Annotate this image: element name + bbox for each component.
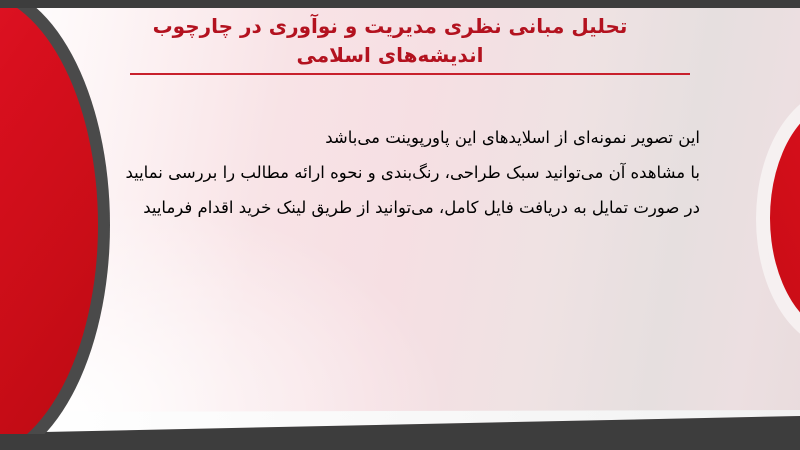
slide-title-line-1: تحلیل مبانی نظری مدیریت و نوآوری در چارچ… <box>60 12 720 41</box>
slide-title-line-2: اندیشه‌های اسلامی <box>60 41 720 70</box>
presentation-slide: تحلیل مبانی نظری مدیریت و نوآوری در چارچ… <box>0 0 800 450</box>
title-underline-rule <box>130 73 690 75</box>
slide-title: تحلیل مبانی نظری مدیریت و نوآوری در چارچ… <box>60 12 720 70</box>
body-line-1: این تصویر نمونه‌ای از اسلایدهای این پاور… <box>80 120 700 155</box>
body-line-2: با مشاهده آن می‌توانید سبک طراحی، رنگ‌بن… <box>80 155 700 190</box>
body-line-3: در صورت تمایل به دریافت فایل کامل، می‌تو… <box>80 190 700 225</box>
frame-band-bottom <box>0 434 800 450</box>
frame-band-top <box>0 0 800 8</box>
slide-body-text: این تصویر نمونه‌ای از اسلایدهای این پاور… <box>80 120 700 225</box>
